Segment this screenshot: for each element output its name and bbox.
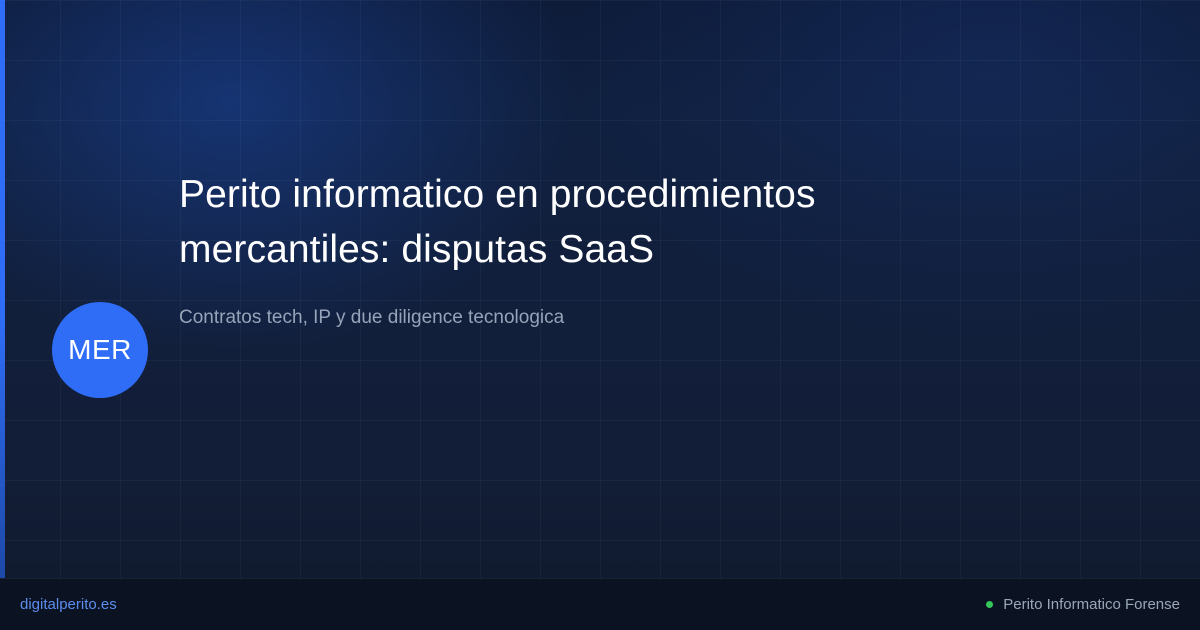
avatar-label: MER — [68, 334, 132, 366]
page-subtitle: Contratos tech, IP y due diligence tecno… — [179, 304, 819, 332]
card-footer: digitalperito.es Perito Informatico Fore… — [0, 578, 1200, 630]
card-content: MER Perito informatico en procedimientos… — [0, 0, 1200, 578]
social-share-card: MER Perito informatico en procedimientos… — [0, 0, 1200, 630]
site-domain-link[interactable]: digitalperito.es — [20, 596, 117, 613]
page-title: Perito informatico en procedimientos mer… — [179, 167, 819, 277]
text-block: Perito informatico en procedimientos mer… — [179, 167, 819, 332]
footer-label: Perito Informatico Forense — [1003, 596, 1180, 613]
footer-right: Perito Informatico Forense — [986, 596, 1180, 613]
status-dot-icon — [986, 601, 993, 608]
avatar: MER — [52, 302, 148, 398]
